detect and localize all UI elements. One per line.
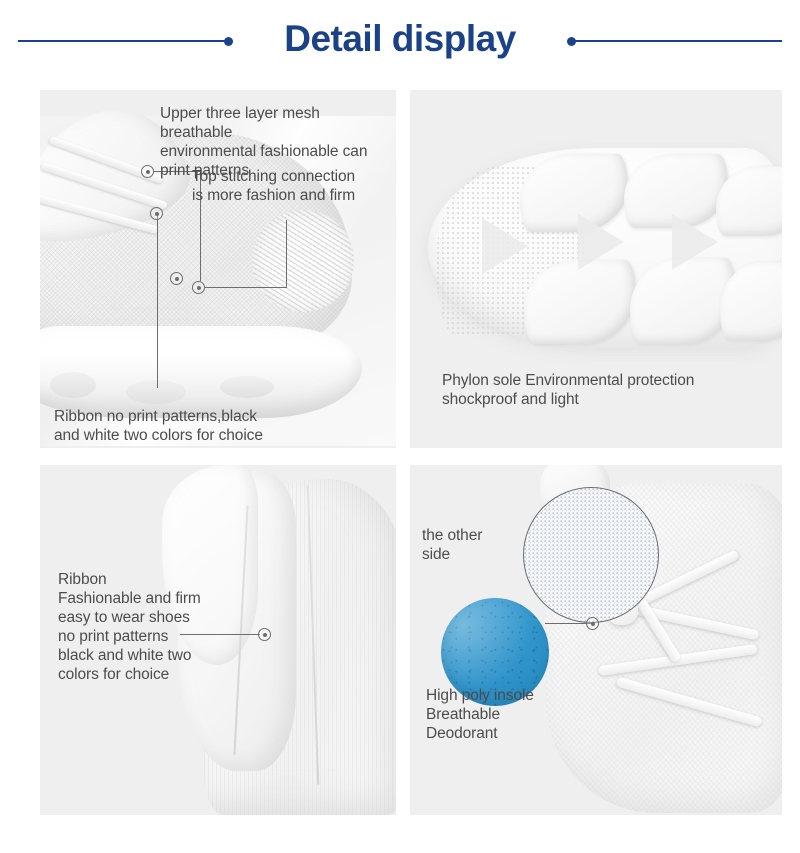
top-stitching-note: Top stitching connection is more fashion… xyxy=(192,168,392,206)
callout-marker-toe[interactable] xyxy=(170,272,183,285)
ribbon-note: Ribbon no print patterns,black and white… xyxy=(54,408,330,446)
other-side-note: the other side xyxy=(422,527,532,565)
callout-marker-insole[interactable] xyxy=(586,617,599,630)
ribbon-detail-note: Ribbon Fashionable and firm easy to wear… xyxy=(58,571,226,684)
callout-marker-collar[interactable] xyxy=(258,628,271,641)
high-poly-insole-note: High poly insole Breathable Deodorant xyxy=(426,687,596,744)
callout-marker-mesh[interactable] xyxy=(150,207,163,220)
page-title: Detail display xyxy=(262,20,538,57)
page-header: Detail display xyxy=(0,0,800,76)
callout-marker-lace[interactable] xyxy=(141,165,154,178)
decorator-line-left xyxy=(18,40,225,42)
phylon-sole-note: Phylon sole Environmental protection sho… xyxy=(442,372,772,410)
panel-upper-mesh: Upper three layer mesh breathable enviro… xyxy=(40,90,396,448)
panel-heel-collar: Ribbon Fashionable and firm easy to wear… xyxy=(40,465,396,815)
panel-phylon-sole: Phylon sole Environmental protection sho… xyxy=(410,90,782,448)
stitching-magnifier-circle xyxy=(252,210,354,312)
breathable-mesh-magnifier-circle xyxy=(523,487,659,623)
detail-panel-grid: Upper three layer mesh breathable enviro… xyxy=(40,90,782,815)
header-decorator-right xyxy=(567,36,782,46)
decorator-line-right xyxy=(575,40,782,42)
outsole-image xyxy=(428,148,782,348)
decorator-dot-left xyxy=(224,37,233,46)
header-decorator-left xyxy=(18,36,233,46)
panel-insole: the other side High poly insole Breathab… xyxy=(410,465,782,815)
callout-marker-stitch[interactable] xyxy=(192,281,205,294)
